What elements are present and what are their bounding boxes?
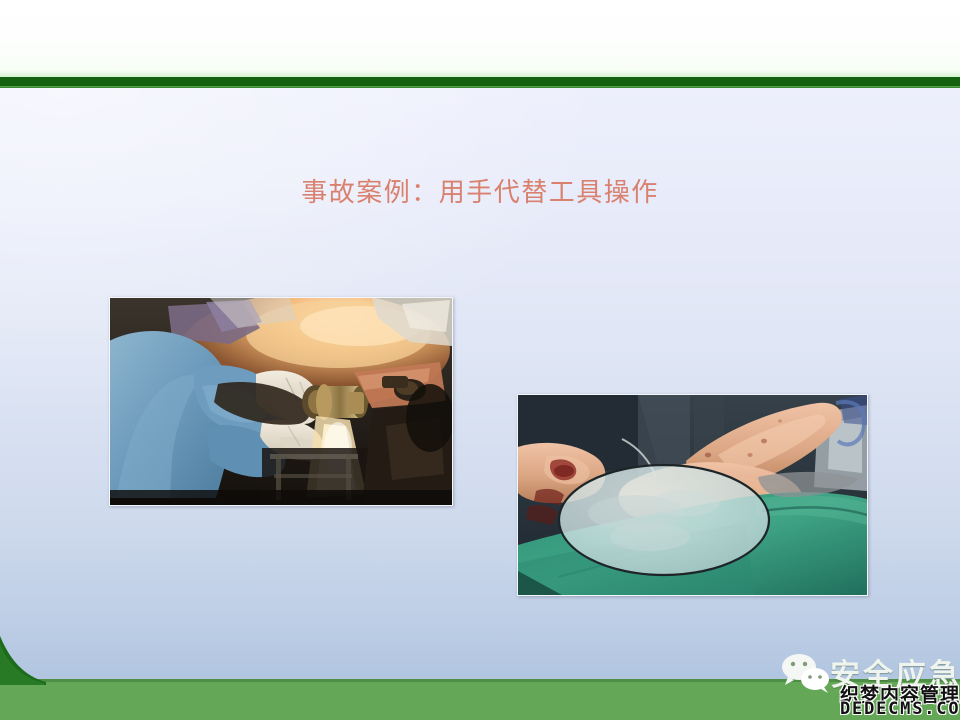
wechat-icon <box>778 652 836 694</box>
wechat-icon-graphic <box>778 652 836 694</box>
slide-header-strip <box>0 0 960 77</box>
slide-title: 事故案例：用手代替工具操作 <box>0 172 960 209</box>
photo-injury <box>517 394 868 596</box>
photo-surgery <box>109 297 453 506</box>
photo-surgery-graphic <box>110 298 452 505</box>
photo-injury-graphic <box>518 395 867 595</box>
brand-logo: 安全应急 织梦内容管理系统 DEDECMS.COM <box>778 648 960 720</box>
watermark-english: DEDECMS.COM <box>840 699 960 719</box>
presentation-slide: 事故案例：用手代替工具操作 <box>0 0 960 720</box>
